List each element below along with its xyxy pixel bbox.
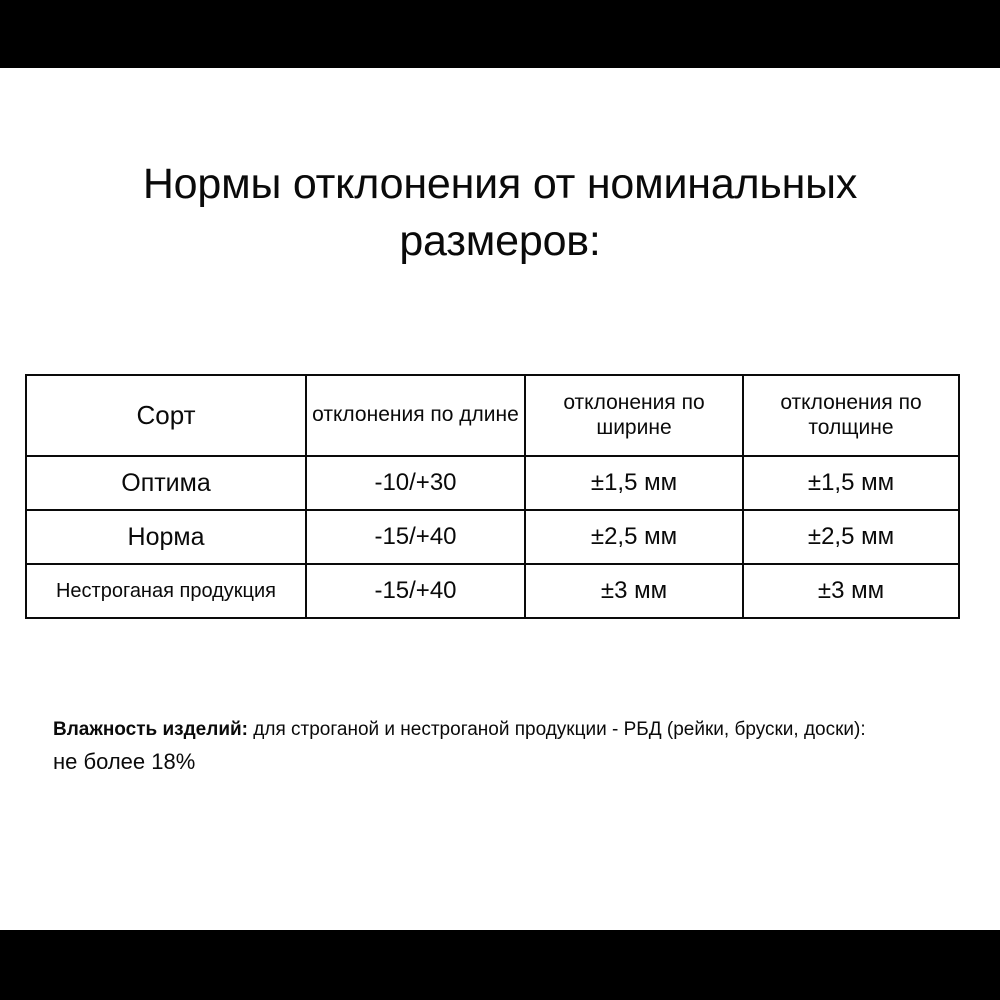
slide-canvas: Нормы отклонения от номинальных размеров… bbox=[0, 68, 1000, 930]
table-row: Оптима -10/+30 ±1,5 мм ±1,5 мм bbox=[26, 456, 959, 510]
cell-thickness-deviation: ±2,5 мм bbox=[743, 510, 959, 564]
cell-width-deviation: ±1,5 мм bbox=[525, 456, 743, 510]
footnote-line-1: Влажность изделий: для строганой и нестр… bbox=[53, 716, 948, 744]
cell-length-deviation: -10/+30 bbox=[306, 456, 525, 510]
column-header-length-deviation: отклонения по длине bbox=[306, 375, 525, 456]
cell-width-deviation: ±3 мм bbox=[525, 564, 743, 618]
letterbox-top bbox=[0, 0, 1000, 68]
slide-page: Нормы отклонения от номинальных размеров… bbox=[0, 0, 1000, 1000]
cell-length-deviation: -15/+40 bbox=[306, 510, 525, 564]
table-row: Нестроганая продукция -15/+40 ±3 мм ±3 м… bbox=[26, 564, 959, 618]
cell-thickness-deviation: ±1,5 мм bbox=[743, 456, 959, 510]
letterbox-bottom bbox=[0, 930, 1000, 1000]
footnote-label: Влажность изделий: bbox=[53, 719, 248, 740]
table-header-row: Сорт отклонения по длине отклонения по ш… bbox=[26, 375, 959, 456]
page-title: Нормы отклонения от номинальных размеров… bbox=[60, 156, 940, 270]
footnote-line-2: не более 18% bbox=[53, 747, 948, 777]
cell-grade: Оптима bbox=[26, 456, 306, 510]
moisture-footnote: Влажность изделий: для строганой и нестр… bbox=[53, 716, 948, 776]
cell-length-deviation: -15/+40 bbox=[306, 564, 525, 618]
cell-width-deviation: ±2,5 мм bbox=[525, 510, 743, 564]
table-row: Норма -15/+40 ±2,5 мм ±2,5 мм bbox=[26, 510, 959, 564]
cell-thickness-deviation: ±3 мм bbox=[743, 564, 959, 618]
column-header-grade: Сорт bbox=[26, 375, 306, 456]
column-header-width-deviation: отклонения по ширине bbox=[525, 375, 743, 456]
column-header-thickness-deviation: отклонения по толщине bbox=[743, 375, 959, 456]
deviation-norms-table: Сорт отклонения по длине отклонения по ш… bbox=[25, 374, 960, 619]
footnote-text: для строганой и нестроганой продукции - … bbox=[248, 719, 866, 740]
cell-grade: Нестроганая продукция bbox=[26, 564, 306, 618]
cell-grade: Норма bbox=[26, 510, 306, 564]
